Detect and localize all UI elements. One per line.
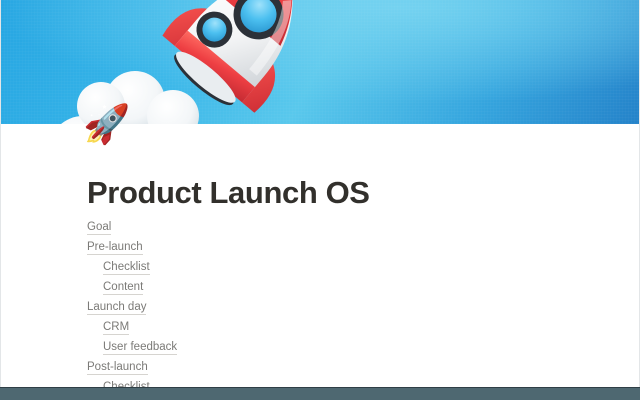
toc-link-label: Pre-launch <box>87 241 143 255</box>
table-of-contents: GoalPre-launchChecklistContentLaunch day… <box>87 217 587 387</box>
toc-link-label: Content <box>103 281 143 295</box>
toc-link-label: User feedback <box>103 341 177 355</box>
toc-link[interactable]: Checklist <box>103 257 587 277</box>
toc-link[interactable]: Pre-launch <box>87 237 587 257</box>
toc-link[interactable]: Goal <box>87 217 587 237</box>
page-title: Product Launch OS <box>87 175 370 211</box>
toc-link-label: Post-launch <box>87 361 148 375</box>
page-frame: 🚀 Product Launch OS GoalPre-launchCheckl… <box>0 0 640 387</box>
toc-link[interactable]: User feedback <box>103 337 587 357</box>
toc-link[interactable]: Content <box>103 277 587 297</box>
toc-link-label: Goal <box>87 221 111 235</box>
toc-link[interactable]: Launch day <box>87 297 587 317</box>
toc-link[interactable]: CRM <box>103 317 587 337</box>
app-viewport: 🚀 Product Launch OS GoalPre-launchCheckl… <box>0 0 640 400</box>
window-bottom-bar <box>0 387 640 400</box>
rocket-emoji-icon[interactable]: 🚀 <box>83 102 129 148</box>
toc-link-label: CRM <box>103 321 129 335</box>
toc-link[interactable]: Checklist <box>103 377 587 387</box>
toc-link[interactable]: Post-launch <box>87 357 587 377</box>
toc-link-label: Checklist <box>103 261 150 275</box>
smoke-cloud <box>61 71 199 124</box>
toc-link-label: Launch day <box>87 301 146 315</box>
